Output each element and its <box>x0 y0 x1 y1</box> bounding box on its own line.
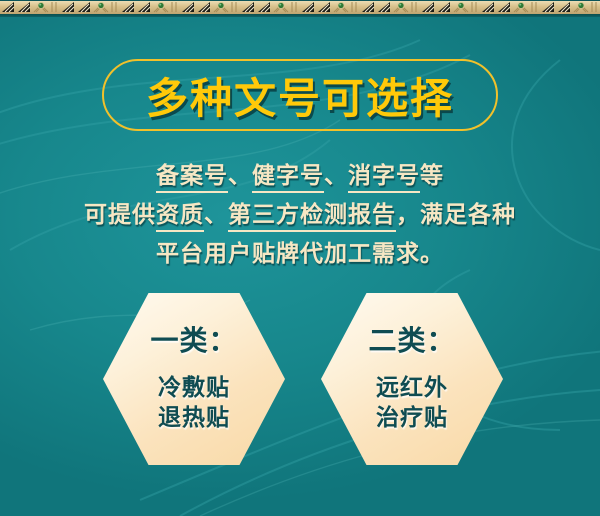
description-run: 、 <box>228 163 252 189</box>
category-one-item: 退热贴 <box>158 403 230 433</box>
description-line: 备案号、健字号、消字号等 <box>0 157 600 196</box>
description-line: 可提供资质、第三方检测报告，满足各种 <box>0 196 600 235</box>
description-underlined-run: 资质 <box>156 202 204 232</box>
description-underlined-run: 备案号 <box>156 163 228 193</box>
category-two-item: 远红外 <box>376 373 448 403</box>
category-two-heading: 二类： <box>368 319 455 359</box>
description-run: 等 <box>420 163 444 189</box>
description-run: ，满足各种 <box>396 202 516 228</box>
description-run: 平台用户贴牌代加工需求。 <box>156 241 444 267</box>
category-one-heading: 一类： <box>150 319 237 359</box>
description-run: 、 <box>204 202 228 228</box>
description-underlined-run: 消字号 <box>348 163 420 193</box>
category-two-items: 远红外 治疗贴 <box>376 373 448 433</box>
description-run: 可提供 <box>84 202 156 228</box>
description-run: 、 <box>324 163 348 189</box>
page-title: 多种文号可选择 <box>102 59 498 131</box>
description-underlined-run: 第三方检测报告 <box>228 202 396 232</box>
category-one-items: 冷敷贴 退热贴 <box>158 373 230 433</box>
top-border-underline <box>0 14 600 17</box>
promo-banner: 多种文号可选择 备案号、健字号、消字号等可提供资质、第三方检测报告，满足各种平台… <box>0 0 600 516</box>
description-underlined-run: 健字号 <box>252 163 324 193</box>
description-paragraph: 备案号、健字号、消字号等可提供资质、第三方检测报告，满足各种平台用户贴牌代加工需… <box>0 157 600 274</box>
category-one-item: 冷敷贴 <box>158 373 230 403</box>
top-decorative-border-icon <box>0 0 600 14</box>
category-two-item: 治疗贴 <box>376 403 448 433</box>
description-line: 平台用户贴牌代加工需求。 <box>0 235 600 274</box>
